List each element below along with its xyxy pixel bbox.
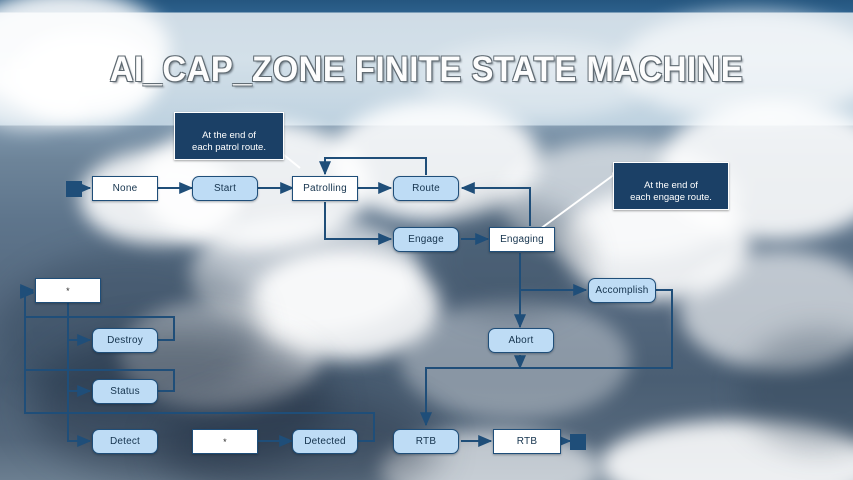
state-node-patrolling[interactable]: Patrolling: [292, 176, 358, 201]
state-node-any-left[interactable]: *: [35, 278, 101, 303]
node-label: Status: [110, 386, 140, 397]
state-node-abort[interactable]: Abort: [488, 328, 554, 353]
node-label: Detect: [110, 436, 140, 447]
state-node-status[interactable]: Status: [92, 379, 158, 404]
callout-patrol-note: At the end of each patrol route.: [174, 112, 284, 160]
node-label: Detected: [304, 436, 346, 447]
state-node-detected[interactable]: Detected: [292, 429, 358, 454]
state-node-engage[interactable]: Engage: [393, 227, 459, 252]
node-label: Engaging: [500, 234, 544, 245]
node-label: Accomplish: [595, 285, 648, 296]
state-node-destroy[interactable]: Destroy: [92, 328, 158, 353]
state-node-none[interactable]: None: [92, 176, 158, 201]
state-node-detect[interactable]: Detect: [92, 429, 158, 454]
initial-state-marker[interactable]: [66, 181, 82, 197]
node-label: Route: [412, 183, 440, 194]
state-node-rtb-blue[interactable]: RTB: [393, 429, 459, 454]
state-node-route[interactable]: Route: [393, 176, 459, 201]
node-label: Engage: [408, 234, 444, 245]
state-node-rtb-white[interactable]: RTB: [493, 429, 561, 454]
node-label: None: [113, 183, 138, 194]
final-state-marker[interactable]: [570, 434, 586, 450]
state-node-start[interactable]: Start: [192, 176, 258, 201]
state-node-accomplish[interactable]: Accomplish: [588, 278, 656, 303]
node-label: RTB: [416, 436, 436, 447]
callout-text: At the end of each patrol route.: [192, 130, 266, 154]
node-label: RTB: [517, 436, 537, 447]
node-label: Patrolling: [303, 183, 347, 194]
slide-canvas: AI_CAP_ZONE FINITE STATE MACHINE: [0, 0, 853, 480]
node-label: *: [66, 286, 70, 296]
node-label: Destroy: [107, 335, 143, 346]
callout-engage-note: At the end of each engage route.: [613, 162, 729, 210]
node-label: *: [223, 437, 227, 447]
state-node-engaging[interactable]: Engaging: [489, 227, 555, 252]
state-node-any-bottom[interactable]: *: [192, 429, 258, 454]
callout-text: At the end of each engage route.: [630, 180, 712, 204]
node-label: Start: [214, 183, 236, 194]
node-label: Abort: [509, 335, 534, 346]
